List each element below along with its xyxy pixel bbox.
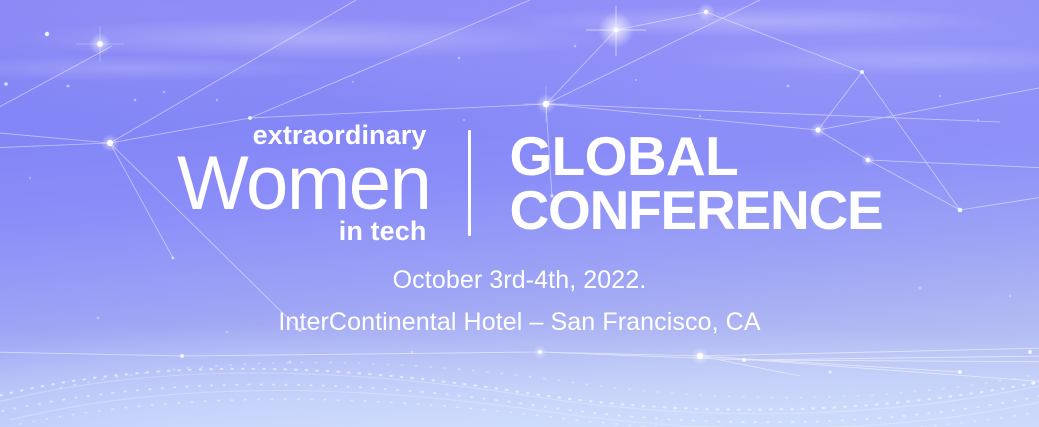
logo-word-in-tech: in tech: [339, 218, 427, 245]
logo-word-women: Women: [177, 146, 430, 222]
conference-banner: extraordinary Women in tech GLOBAL CONFE…: [0, 0, 1039, 427]
logo-word-global: GLOBAL: [509, 130, 882, 183]
event-details: October 3rd-4th, 2022. InterContinental …: [0, 268, 1039, 335]
logo-left-wordmark: extraordinary Women in tech: [156, 118, 428, 248]
logo-right-wordmark: GLOBAL CONFERENCE: [509, 118, 882, 248]
event-date: October 3rd-4th, 2022.: [0, 268, 1039, 293]
logo-word-conference: CONFERENCE: [509, 184, 882, 237]
logo-lockup: extraordinary Women in tech GLOBAL CONFE…: [0, 118, 1039, 248]
event-venue: InterContinental Hotel – San Francisco, …: [0, 310, 1039, 335]
logo-divider-rule: [468, 130, 471, 236]
